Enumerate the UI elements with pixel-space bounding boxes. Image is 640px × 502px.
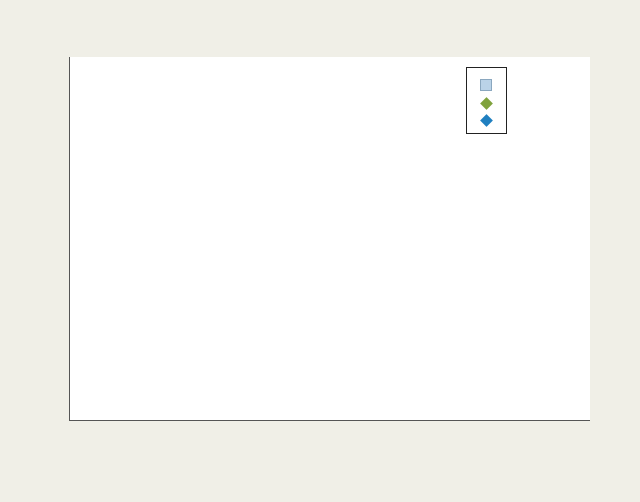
- plot-area: [70, 57, 590, 420]
- category-axis-bracket: [69, 430, 590, 442]
- diamond-marker-icon: [476, 96, 496, 108]
- chart-legend: [466, 67, 507, 134]
- chart-root: [0, 0, 640, 502]
- legend-item-depth-of-resiliency: [476, 76, 496, 91]
- legend-item-recover: [476, 113, 496, 125]
- diamond-marker-icon: [476, 113, 496, 125]
- legend-item-survive: [476, 96, 496, 108]
- y-axis-line: [69, 57, 70, 421]
- band-swatch-icon: [476, 76, 496, 91]
- x-axis-line: [69, 420, 590, 421]
